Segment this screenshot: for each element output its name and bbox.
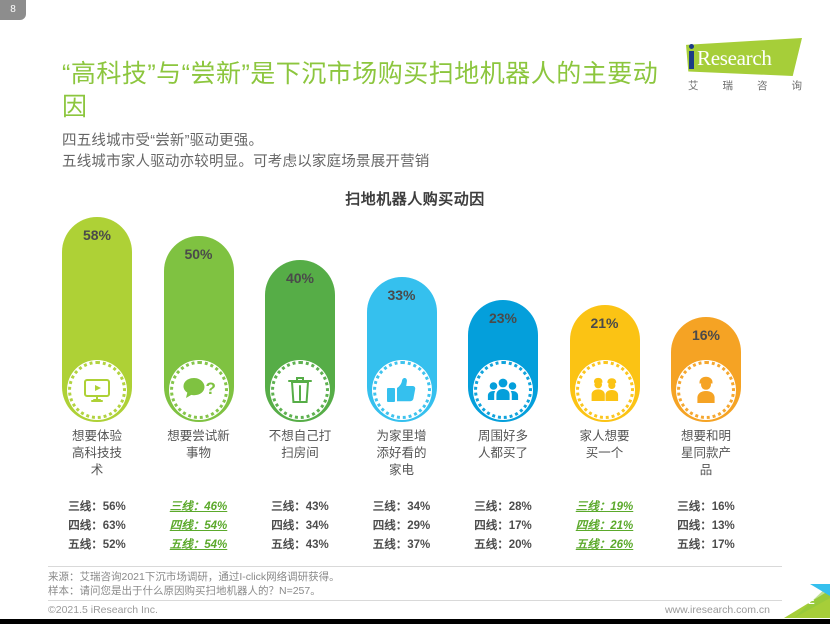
tier-stats: 三线：46%四线：54%五线：54% xyxy=(156,498,242,555)
tier-stat-value: 五线：26% xyxy=(562,536,648,555)
category-label-line: 品 xyxy=(663,462,749,479)
tier-stat-value: 三线：56% xyxy=(54,498,140,517)
bar[interactable]: 21% xyxy=(570,305,640,422)
tier-stat-value: 三线：28% xyxy=(460,498,546,517)
tier-stat-value: 四线：63% xyxy=(54,517,140,536)
logo-cn-char-2: 瑞 xyxy=(723,78,734,93)
tier-stats: 三线：56%四线：63%五线：52% xyxy=(54,498,140,555)
tier-stat-value: 四线：17% xyxy=(460,517,546,536)
bar-column: 23% xyxy=(468,300,538,422)
category-column: 想要和明星同款产品三线：16%四线：13%五线：17% xyxy=(663,428,749,555)
trash-can-icon xyxy=(270,360,330,420)
category-label-line: 想要体验 xyxy=(54,428,140,445)
bar-chart: 58%50%?40%33%23%21%16% xyxy=(62,212,774,422)
question-bubble-icon: ? xyxy=(169,360,229,420)
tier-stat-value: 四线：34% xyxy=(257,517,343,536)
category-label-line: 想要和明 xyxy=(663,428,749,445)
tier-stat-value: 四线：21% xyxy=(562,517,648,536)
tier-stat-value: 四线：54% xyxy=(156,517,242,536)
bar-column: 58% xyxy=(62,217,132,422)
logo-cn-char-4: 询 xyxy=(792,78,803,93)
page-title: “高科技”与“尝新”是下沉市场购买扫地机器人的主要动因 xyxy=(62,58,672,124)
bar-value-label: 50% xyxy=(164,246,234,262)
tier-stats: 三线：28%四线：17%五线：20% xyxy=(460,498,546,555)
category-column: 想要尝试新事物三线：46%四线：54%五线：54% xyxy=(156,428,242,555)
category-label-line: 扫房间 xyxy=(257,445,343,462)
bar-column: 50%? xyxy=(164,236,234,422)
tier-stat-value: 四线：29% xyxy=(359,517,445,536)
corner-decoration: E xyxy=(784,584,830,618)
source-note: 来源：艾瑞咨询2021下沉市场调研，通过I-click网络调研获得。 样本：请问… xyxy=(48,570,648,598)
category-column: 想要体验高科技技术三线：56%四线：63%五线：52% xyxy=(54,428,140,555)
category-column: 为家里增添好看的家电三线：34%四线：29%五线：37% xyxy=(359,428,445,555)
category-label-line: 星同款产 xyxy=(663,445,749,462)
bar-column: 21% xyxy=(570,305,640,422)
category-label-line: 家人想要 xyxy=(562,428,648,445)
iresearch-logo: Research 艾 瑞 咨 询 xyxy=(672,38,802,98)
category-label: 想要体验高科技技术 xyxy=(54,428,140,496)
bar[interactable]: 23% xyxy=(468,300,538,422)
category-label-line: 高科技技 xyxy=(54,445,140,462)
tier-stat-value: 四线：13% xyxy=(663,517,749,536)
logo-cn-char-1: 艾 xyxy=(688,78,699,93)
svg-text:?: ? xyxy=(205,379,215,398)
footer-divider-top xyxy=(48,566,782,567)
category-column: 家人想要买一个三线：19%四线：21%五线：26% xyxy=(562,428,648,555)
bar[interactable]: 50%? xyxy=(164,236,234,422)
category-label-line: 术 xyxy=(54,462,140,479)
logo-wordmark: Research xyxy=(697,46,772,70)
logo-i-stem xyxy=(689,51,694,69)
tier-stat-value: 五线：20% xyxy=(460,536,546,555)
category-label-line: 添好看的 xyxy=(359,445,445,462)
category-label: 想要尝试新事物 xyxy=(156,428,242,496)
bar[interactable]: 16% xyxy=(671,317,741,422)
bar[interactable]: 33% xyxy=(367,277,437,422)
category-label: 不想自己打扫房间 xyxy=(257,428,343,496)
bar[interactable]: 58% xyxy=(62,217,132,422)
slide-header: “高科技”与“尝新”是下沉市场购买扫地机器人的主要动因 四五线城市受“尝新”驱动… xyxy=(0,0,830,185)
category-label-line: 事物 xyxy=(156,445,242,462)
footer-divider xyxy=(48,600,782,601)
category-label: 家人想要买一个 xyxy=(562,428,648,496)
chart-labels-and-stats: 想要体验高科技技术三线：56%四线：63%五线：52%想要尝试新事物三线：46%… xyxy=(62,428,774,548)
subtitle-line-2: 五线城市家人驱动亦较明显。可考虑以家庭场景展开营销 xyxy=(62,152,662,173)
website-url: www.iresearch.com.cn xyxy=(665,604,770,616)
category-label: 为家里增添好看的家电 xyxy=(359,428,445,496)
bottom-black-bar xyxy=(0,619,830,624)
copyright-text: ©2021.5 iResearch Inc. xyxy=(48,604,158,616)
tier-stat-value: 五线：43% xyxy=(257,536,343,555)
category-label-line: 不想自己打 xyxy=(257,428,343,445)
category-label: 想要和明星同款产品 xyxy=(663,428,749,496)
tier-stat-value: 五线：17% xyxy=(663,536,749,555)
logo-mark: Research xyxy=(672,38,802,76)
bar-value-label: 21% xyxy=(570,315,640,331)
svg-text:E: E xyxy=(808,596,815,607)
category-label: 周围好多人都买了 xyxy=(460,428,546,496)
category-label-line: 买一个 xyxy=(562,445,648,462)
chart-title: 扫地机器人购买动因 xyxy=(0,188,830,209)
corner-decoration-svg: E xyxy=(784,584,830,618)
thumbs-up-icon xyxy=(372,360,432,420)
logo-cn-char-3: 咨 xyxy=(757,78,768,93)
monitor-play-icon xyxy=(67,360,127,420)
category-column: 不想自己打扫房间三线：43%四线：34%五线：43% xyxy=(257,428,343,555)
logo-chinese-name: 艾 瑞 咨 询 xyxy=(688,78,802,93)
tier-stat-value: 三线：16% xyxy=(663,498,749,517)
bar-column: 40% xyxy=(265,260,335,422)
people-group-icon xyxy=(473,360,533,420)
category-label-line: 想要尝试新 xyxy=(156,428,242,445)
couple-icon xyxy=(575,360,635,420)
tier-stat-value: 五线：37% xyxy=(359,536,445,555)
bar-value-label: 58% xyxy=(62,227,132,243)
tier-stat-value: 五线：54% xyxy=(156,536,242,555)
bar-value-label: 16% xyxy=(671,327,741,343)
category-label-line: 人都买了 xyxy=(460,445,546,462)
tier-stat-value: 三线：43% xyxy=(257,498,343,517)
logo-i-dot xyxy=(689,44,694,49)
person-icon xyxy=(676,360,736,420)
tier-stats: 三线：43%四线：34%五线：43% xyxy=(257,498,343,555)
category-label-line: 家电 xyxy=(359,462,445,479)
tier-stat-value: 三线：19% xyxy=(562,498,648,517)
tier-stat-value: 三线：46% xyxy=(156,498,242,517)
tier-stat-value: 五线：52% xyxy=(54,536,140,555)
tier-stats: 三线：16%四线：13%五线：17% xyxy=(663,498,749,555)
source-line-2: 样本：请问您是出于什么原因购买扫地机器人的？N=257。 xyxy=(48,584,648,598)
bar-value-label: 23% xyxy=(468,310,538,326)
tier-stats: 三线：19%四线：21%五线：26% xyxy=(562,498,648,555)
bar-value-label: 40% xyxy=(265,270,335,286)
bar-value-label: 33% xyxy=(367,287,437,303)
source-line-1: 来源：艾瑞咨询2021下沉市场调研，通过I-click网络调研获得。 xyxy=(48,570,648,584)
bar[interactable]: 40% xyxy=(265,260,335,422)
category-label-line: 为家里增 xyxy=(359,428,445,445)
subtitle-line-1: 四五线城市受“尝新”驱动更强。 xyxy=(62,131,662,152)
category-label-line: 周围好多 xyxy=(460,428,546,445)
tier-stats: 三线：34%四线：29%五线：37% xyxy=(359,498,445,555)
bar-column: 16% xyxy=(671,317,741,422)
category-column: 周围好多人都买了三线：28%四线：17%五线：20% xyxy=(460,428,546,555)
tier-stat-value: 三线：34% xyxy=(359,498,445,517)
page-subtitle: 四五线城市受“尝新”驱动更强。 五线城市家人驱动亦较明显。可考虑以家庭场景展开营… xyxy=(62,131,662,173)
bar-column: 33% xyxy=(367,277,437,422)
